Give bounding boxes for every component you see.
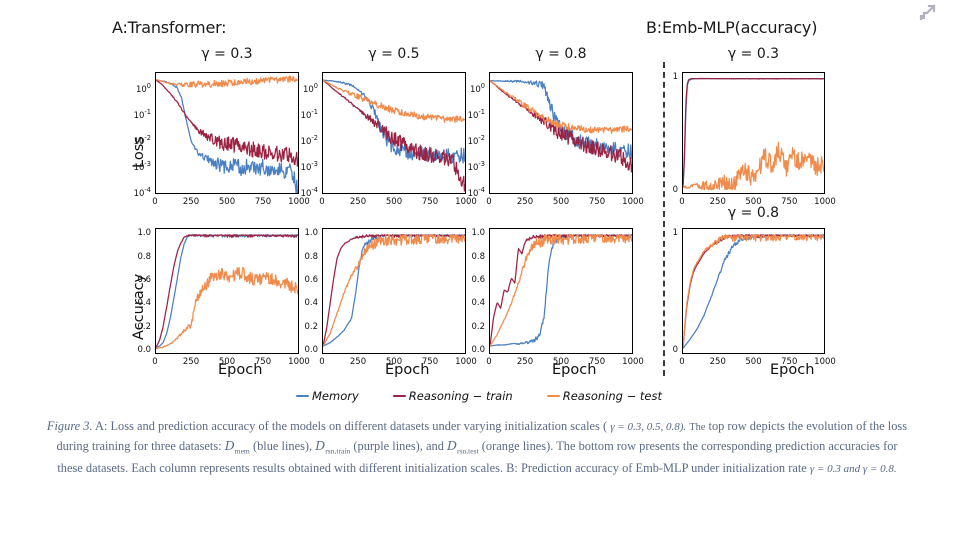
- caption-line-1: A: Loss and prediction accuracy of the m…: [95, 419, 607, 433]
- xtick-A-loss-g08-2: 500: [545, 197, 577, 207]
- ytick-B-acc-g08-0: 0: [652, 345, 678, 355]
- xtick-A-acc-g03-2: 500: [211, 357, 243, 367]
- subplot-title-B-acc-g03: γ = 0.3: [682, 46, 825, 62]
- caption-purple-lines: (purple lines), and: [353, 439, 444, 453]
- xtick-A-loss-g03-2: 500: [211, 197, 243, 207]
- series-reasoning-train: [156, 235, 298, 348]
- series-memory: [156, 80, 298, 193]
- ytick-A-loss-g03-1: 10-1: [125, 111, 151, 121]
- figure-caption: Figure 3. A: Loss and prediction accurac…: [46, 418, 908, 478]
- xtick-A-acc-g03-0: 0: [139, 357, 171, 367]
- xtick-A-acc-g05-1: 250: [342, 357, 374, 367]
- legend-swatch-memory: [296, 395, 309, 397]
- xtick-B-acc-g08-0: 0: [666, 357, 698, 367]
- ytick-B-acc-g03-0: 0: [652, 185, 678, 195]
- plot-A-acc-g03[interactable]: [155, 228, 299, 354]
- xtick-A-loss-g03-1: 250: [175, 197, 207, 207]
- xtick-B-acc-g08-4: 1000: [809, 357, 841, 367]
- ytick-A-loss-g08-0: 100: [459, 85, 485, 95]
- caption-dataset-rsn-test: D: [447, 438, 457, 453]
- caption-figure-number: Figure 3.: [47, 419, 93, 433]
- xtick-A-acc-g05-3: 750: [414, 357, 446, 367]
- plot-A-loss-g03[interactable]: [155, 72, 299, 194]
- ytick-A-acc-g03-3: 0.6: [125, 275, 151, 285]
- series-reasoning-test: [156, 76, 298, 87]
- ytick-A-acc-g08-5: 1.0: [459, 228, 485, 238]
- xtick-A-loss-g08-3: 750: [581, 197, 613, 207]
- panel-a-title: A:Transformer:: [112, 18, 226, 37]
- series-memory: [490, 235, 632, 346]
- caption-dataset-mem-sub: mem: [235, 446, 250, 455]
- legend-label-reasoning-train: Reasoning − train: [409, 389, 513, 403]
- legend-item-reasoning-test[interactable]: Reasoning − test: [547, 389, 662, 403]
- series-reasoning-test: [490, 81, 632, 134]
- ytick-B-acc-g08-1: 1: [652, 228, 678, 238]
- xtick-B-acc-g08-2: 500: [738, 357, 770, 367]
- ytick-A-acc-g03-1: 0.2: [125, 322, 151, 332]
- ytick-A-acc-g08-0: 0.0: [459, 345, 485, 355]
- caption-line-5-math: γ = 0.3 and γ = 0.8.: [810, 463, 897, 475]
- ytick-A-acc-g03-2: 0.4: [125, 298, 151, 308]
- plot-B-acc-g08[interactable]: [682, 228, 825, 354]
- caption-dataset-rsn-train-sub: rsn,train: [325, 446, 350, 455]
- ytick-A-loss-g05-2: 10-2: [292, 137, 318, 147]
- ytick-B-acc-g03-1: 1: [652, 72, 678, 82]
- caption-line-4: Each column represents results obtained …: [131, 461, 719, 475]
- xtick-A-acc-g08-0: 0: [473, 357, 505, 367]
- caption-the: The: [689, 422, 705, 433]
- plot-B-acc-g03[interactable]: [682, 72, 825, 194]
- plot-A-acc-g08[interactable]: [489, 228, 633, 354]
- ytick-A-acc-g08-1: 0.2: [459, 322, 485, 332]
- xtick-A-acc-g03-1: 250: [175, 357, 207, 367]
- ytick-A-acc-g05-1: 0.2: [292, 322, 318, 332]
- legend-item-reasoning-train[interactable]: Reasoning − train: [393, 389, 513, 403]
- caption-dataset-mem: D: [225, 438, 235, 453]
- ytick-A-loss-g08-3: 10-3: [459, 163, 485, 173]
- ytick-A-loss-g03-3: 10-3: [125, 163, 151, 173]
- caption-blue-lines: (blue lines),: [253, 439, 312, 453]
- xtick-A-loss-g03-0: 0: [139, 197, 171, 207]
- series-reasoning-test: [683, 142, 824, 189]
- xtick-A-loss-g05-2: 500: [378, 197, 410, 207]
- series-reasoning-test: [490, 235, 632, 346]
- ytick-A-acc-g08-3: 0.6: [459, 275, 485, 285]
- xtick-A-acc-g05-2: 500: [378, 357, 410, 367]
- caption-dataset-rsn-train: D: [315, 438, 325, 453]
- ytick-A-acc-g05-2: 0.4: [292, 298, 318, 308]
- xtick-B-acc-g08-3: 750: [773, 357, 805, 367]
- xtick-A-acc-g05-0: 0: [306, 357, 338, 367]
- subplot-title-B-acc-g08: γ = 0.8: [682, 205, 825, 221]
- legend: Memory Reasoning − train Reasoning − tes…: [296, 388, 662, 404]
- xtick-A-loss-g05-3: 750: [414, 197, 446, 207]
- legend-swatch-reasoning-train: [393, 395, 406, 397]
- xtick-A-loss-g08-4: 1000: [617, 197, 649, 207]
- xtick-A-acc-g08-4: 1000: [617, 357, 649, 367]
- panel-b-title: B:Emb-MLP(accuracy): [646, 18, 817, 37]
- ytick-A-loss-g03-0: 100: [125, 85, 151, 95]
- subplot-title-A-loss-g05: γ = 0.5: [322, 46, 466, 62]
- plot-A-loss-g05[interactable]: [322, 72, 466, 194]
- ytick-A-acc-g08-2: 0.4: [459, 298, 485, 308]
- ytick-A-acc-g05-4: 0.8: [292, 252, 318, 262]
- ytick-A-acc-g03-4: 0.8: [125, 252, 151, 262]
- xtick-A-acc-g08-1: 250: [509, 357, 541, 367]
- ytick-A-loss-g05-1: 10-1: [292, 111, 318, 121]
- xtick-A-acc-g08-3: 750: [581, 357, 613, 367]
- series-reasoning-train: [490, 235, 632, 346]
- series-memory: [323, 235, 465, 346]
- caption-gamma-values: γ = 0.3, 0.5, 0.8).: [610, 421, 686, 433]
- ytick-A-acc-g08-4: 0.8: [459, 252, 485, 262]
- ytick-A-loss-g08-2: 10-2: [459, 137, 485, 147]
- xtick-A-acc-g03-3: 750: [247, 357, 279, 367]
- xtick-A-acc-g08-2: 500: [545, 357, 577, 367]
- xtick-A-loss-g03-3: 750: [247, 197, 279, 207]
- ytick-A-acc-g05-3: 0.6: [292, 275, 318, 285]
- legend-label-reasoning-test: Reasoning − test: [563, 389, 662, 403]
- panel-divider: [663, 62, 665, 376]
- caption-line-5: initialization rate: [722, 461, 806, 475]
- plot-A-loss-g08[interactable]: [489, 72, 633, 194]
- series-reasoning-test: [683, 235, 824, 347]
- legend-label-memory: Memory: [312, 389, 359, 403]
- series-reasoning-train: [683, 79, 824, 188]
- series-reasoning-test: [323, 80, 465, 122]
- plot-A-acc-g05[interactable]: [322, 228, 466, 354]
- xtick-A-loss-g08-0: 0: [473, 197, 505, 207]
- ytick-A-loss-g03-2: 10-2: [125, 137, 151, 147]
- ytick-A-loss-g05-3: 10-3: [292, 163, 318, 173]
- ytick-A-acc-g05-0: 0.0: [292, 345, 318, 355]
- series-reasoning-train: [323, 80, 465, 191]
- legend-item-memory[interactable]: Memory: [296, 389, 359, 403]
- ytick-A-acc-g03-5: 1.0: [125, 228, 151, 238]
- caption-dataset-rsn-test-sub: rsn,test: [457, 446, 479, 455]
- figure-3-container: A:Transformer: B:Emb-MLP(accuracy) Loss …: [0, 0, 954, 534]
- series-memory: [683, 79, 824, 188]
- series-reasoning-train: [156, 80, 298, 166]
- legend-swatch-reasoning-test: [547, 395, 560, 397]
- ytick-A-loss-g08-1: 10-1: [459, 111, 485, 121]
- xtick-A-loss-g05-0: 0: [306, 197, 338, 207]
- xtick-B-acc-g08-1: 250: [702, 357, 734, 367]
- ytick-A-acc-g05-5: 1.0: [292, 228, 318, 238]
- subplot-title-A-loss-g08: γ = 0.8: [489, 46, 633, 62]
- xtick-A-loss-g05-1: 250: [342, 197, 374, 207]
- ytick-A-acc-g03-0: 0.0: [125, 345, 151, 355]
- subplot-title-A-loss-g03: γ = 0.3: [155, 46, 299, 62]
- xtick-A-loss-g08-1: 250: [509, 197, 541, 207]
- ytick-A-loss-g05-0: 100: [292, 85, 318, 95]
- resize-expand-icon[interactable]: [918, 4, 936, 22]
